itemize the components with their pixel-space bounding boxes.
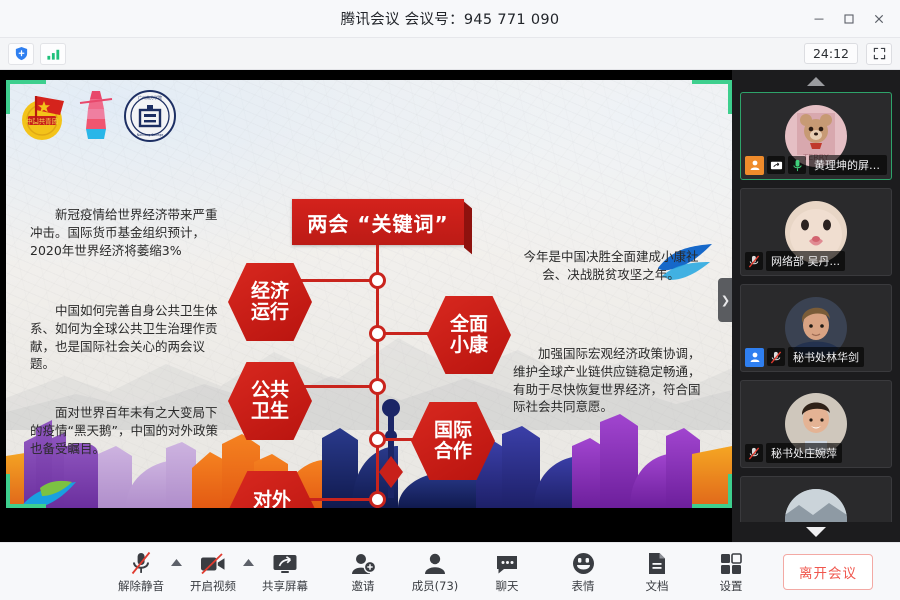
ribbon-decoration	[78, 89, 114, 143]
control-tools: 解除静音 开启视频	[112, 550, 760, 594]
chat-button[interactable]: 聊天	[478, 550, 536, 594]
keyword-line: 公共	[251, 380, 289, 401]
participants-button[interactable]: 成员(73)	[406, 550, 464, 594]
audio-options-caret-icon[interactable]	[171, 559, 183, 568]
emoji-button[interactable]: 表情	[554, 550, 612, 594]
invite-button[interactable]: 邀请	[334, 550, 392, 594]
leave-meeting-button[interactable]: 离开会议	[783, 554, 873, 590]
participant-namebar: 秘书处林华剑	[745, 347, 887, 367]
meeting-timer: 24:12	[804, 43, 858, 64]
title-bar: 腾讯会议 会议号：945 771 090	[0, 0, 900, 38]
timeline-node	[369, 378, 386, 395]
tool-label: 设置	[720, 578, 743, 594]
unmute-button[interactable]: 解除静音	[112, 550, 170, 594]
emoji-smile-icon	[572, 550, 595, 575]
corner-mark	[6, 80, 46, 84]
screen-share-icon	[767, 156, 785, 174]
video-options-caret-icon[interactable]	[243, 559, 255, 568]
slide-paragraph-right-2: 加强国际宏观经济政策协调，维护全球产业链供应链稳定畅通，有助于尽快恢复世界经济，…	[513, 345, 709, 416]
svg-text:中国共青团: 中国共青团	[26, 117, 58, 126]
keyword-line: 合作	[434, 441, 472, 462]
close-icon[interactable]	[864, 4, 894, 34]
university-seal-emblem: 广州南方学院 Nanfang College	[122, 88, 178, 144]
participant-namebar: 秘书处庄婉萍	[745, 443, 887, 463]
participant-tile[interactable]: TERRY 黄理坤的屏幕...	[740, 92, 892, 180]
timeline-node	[369, 491, 386, 508]
triangle-up-icon[interactable]	[740, 70, 892, 92]
participant-tile[interactable]: 网络部 吴丹...	[740, 188, 892, 276]
slide-emblems: 中国共青团	[14, 88, 178, 144]
keyword-line: 小康	[450, 335, 488, 356]
svg-text:Nanfang College: Nanfang College	[137, 133, 163, 137]
corner-mark	[692, 504, 732, 508]
participant-name: 网络部 吴丹...	[766, 251, 845, 271]
corner-mark	[6, 474, 10, 508]
corner-mark	[6, 504, 46, 508]
fullscreen-icon[interactable]	[866, 43, 892, 65]
tool-label: 成员(73)	[412, 578, 459, 594]
maximize-icon[interactable]	[834, 4, 864, 34]
participant-namebar: 黄理坤的屏幕...	[745, 155, 887, 175]
slide-paragraph-right-1: 今年是中国决胜全面建成小康社会、决战脱贫攻坚之年。	[513, 248, 709, 284]
participants-icon	[423, 550, 447, 575]
participant-name: 黄理坤的屏幕...	[809, 155, 887, 175]
tool-label: 开启视频	[190, 578, 236, 594]
share-screen-button[interactable]: 共享屏幕	[256, 550, 314, 594]
microphone-muted-icon	[130, 550, 152, 575]
microphone-muted-icon	[745, 444, 763, 462]
participant-namebar: 网络部 吴丹...	[745, 251, 887, 271]
branch-line	[296, 385, 376, 388]
tool-label: 文档	[646, 578, 669, 594]
svg-text:广州南方学院: 广州南方学院	[138, 94, 162, 100]
tool-label: 表情	[572, 578, 595, 594]
document-icon	[647, 550, 667, 575]
tool-label: 邀请	[352, 578, 375, 594]
chat-bubble-icon	[495, 550, 519, 575]
participant-tile[interactable]: 秘书处庄婉萍	[740, 380, 892, 468]
settings-button[interactable]: 设置	[702, 550, 760, 594]
microphone-on-icon	[788, 156, 806, 174]
invite-person-icon	[351, 550, 376, 575]
presentation-slide: 中国共青团	[6, 80, 732, 508]
microphone-muted-icon	[745, 252, 763, 270]
triangle-down-icon[interactable]	[732, 522, 900, 542]
keyword-line: 经济	[251, 281, 289, 302]
keyword-line: 全面	[450, 314, 488, 335]
cohost-badge-icon	[745, 348, 764, 367]
host-badge-icon	[745, 156, 764, 175]
tool-label: 共享屏幕	[262, 578, 308, 594]
share-screen-icon	[272, 550, 298, 575]
meeting-stage: 中国共青团	[0, 70, 900, 542]
corner-mark	[692, 80, 732, 84]
signal-bars-icon[interactable]	[40, 43, 66, 65]
chevron-right-icon[interactable]: ❯	[718, 278, 732, 322]
tool-label: 聊天	[496, 578, 519, 594]
camera-off-icon	[200, 550, 226, 575]
tool-label: 解除静音	[118, 578, 164, 594]
shared-screen[interactable]: 中国共青团	[6, 80, 732, 508]
timeline-node	[369, 431, 386, 448]
slide-paragraph-left-1: 新冠疫情给世界经济带来严重冲击。国际货币基金组织预计，2020年世界经济将萎缩3…	[30, 206, 226, 259]
branch-line	[298, 279, 376, 282]
shield-icon[interactable]	[8, 43, 34, 65]
participant-tile[interactable]: 秘书处林华剑	[740, 284, 892, 372]
timeline-node	[369, 272, 386, 289]
start-video-button[interactable]: 开启视频	[184, 550, 242, 594]
participant-rail: TERRY 黄理坤的屏幕...	[732, 70, 900, 542]
minimize-icon[interactable]	[804, 4, 834, 34]
keyword-line: 对外	[253, 490, 291, 508]
keyword-line: 卫生	[251, 401, 289, 422]
meeting-controls-bar: 解除静音 开启视频	[0, 542, 900, 600]
tencent-meeting-window: 腾讯会议 会议号：945 771 090	[0, 0, 900, 600]
participant-name: 秘书处林华剑	[788, 347, 864, 367]
participant-name: 秘书处庄婉萍	[766, 443, 842, 463]
window-controls	[804, 0, 894, 38]
settings-grid-icon	[720, 550, 742, 575]
corner-mark	[6, 80, 10, 114]
slide-paragraph-left-2: 中国如何完善自身公共卫生体系、如何为全球公共卫生治理作贡献，也是国际社会关心的两…	[30, 302, 226, 373]
timeline-node	[369, 325, 386, 342]
slide-title-banner: 两会 “关键词”	[292, 199, 464, 245]
slide-paragraph-left-3: 面对世界百年未有之大变局下的疫情“黑天鹅”，中国的对外政策也备受瞩目。	[30, 404, 226, 457]
youth-league-emblem: 中国共青团	[14, 88, 70, 144]
window-title: 腾讯会议 会议号：945 771 090	[341, 8, 560, 29]
document-button[interactable]: 文档	[628, 550, 686, 594]
microphone-muted-icon	[767, 348, 785, 366]
keyword-line: 国际	[434, 420, 472, 441]
keyword-line: 运行	[251, 302, 289, 323]
meeting-sub-toolbar: 24:12	[0, 38, 900, 70]
